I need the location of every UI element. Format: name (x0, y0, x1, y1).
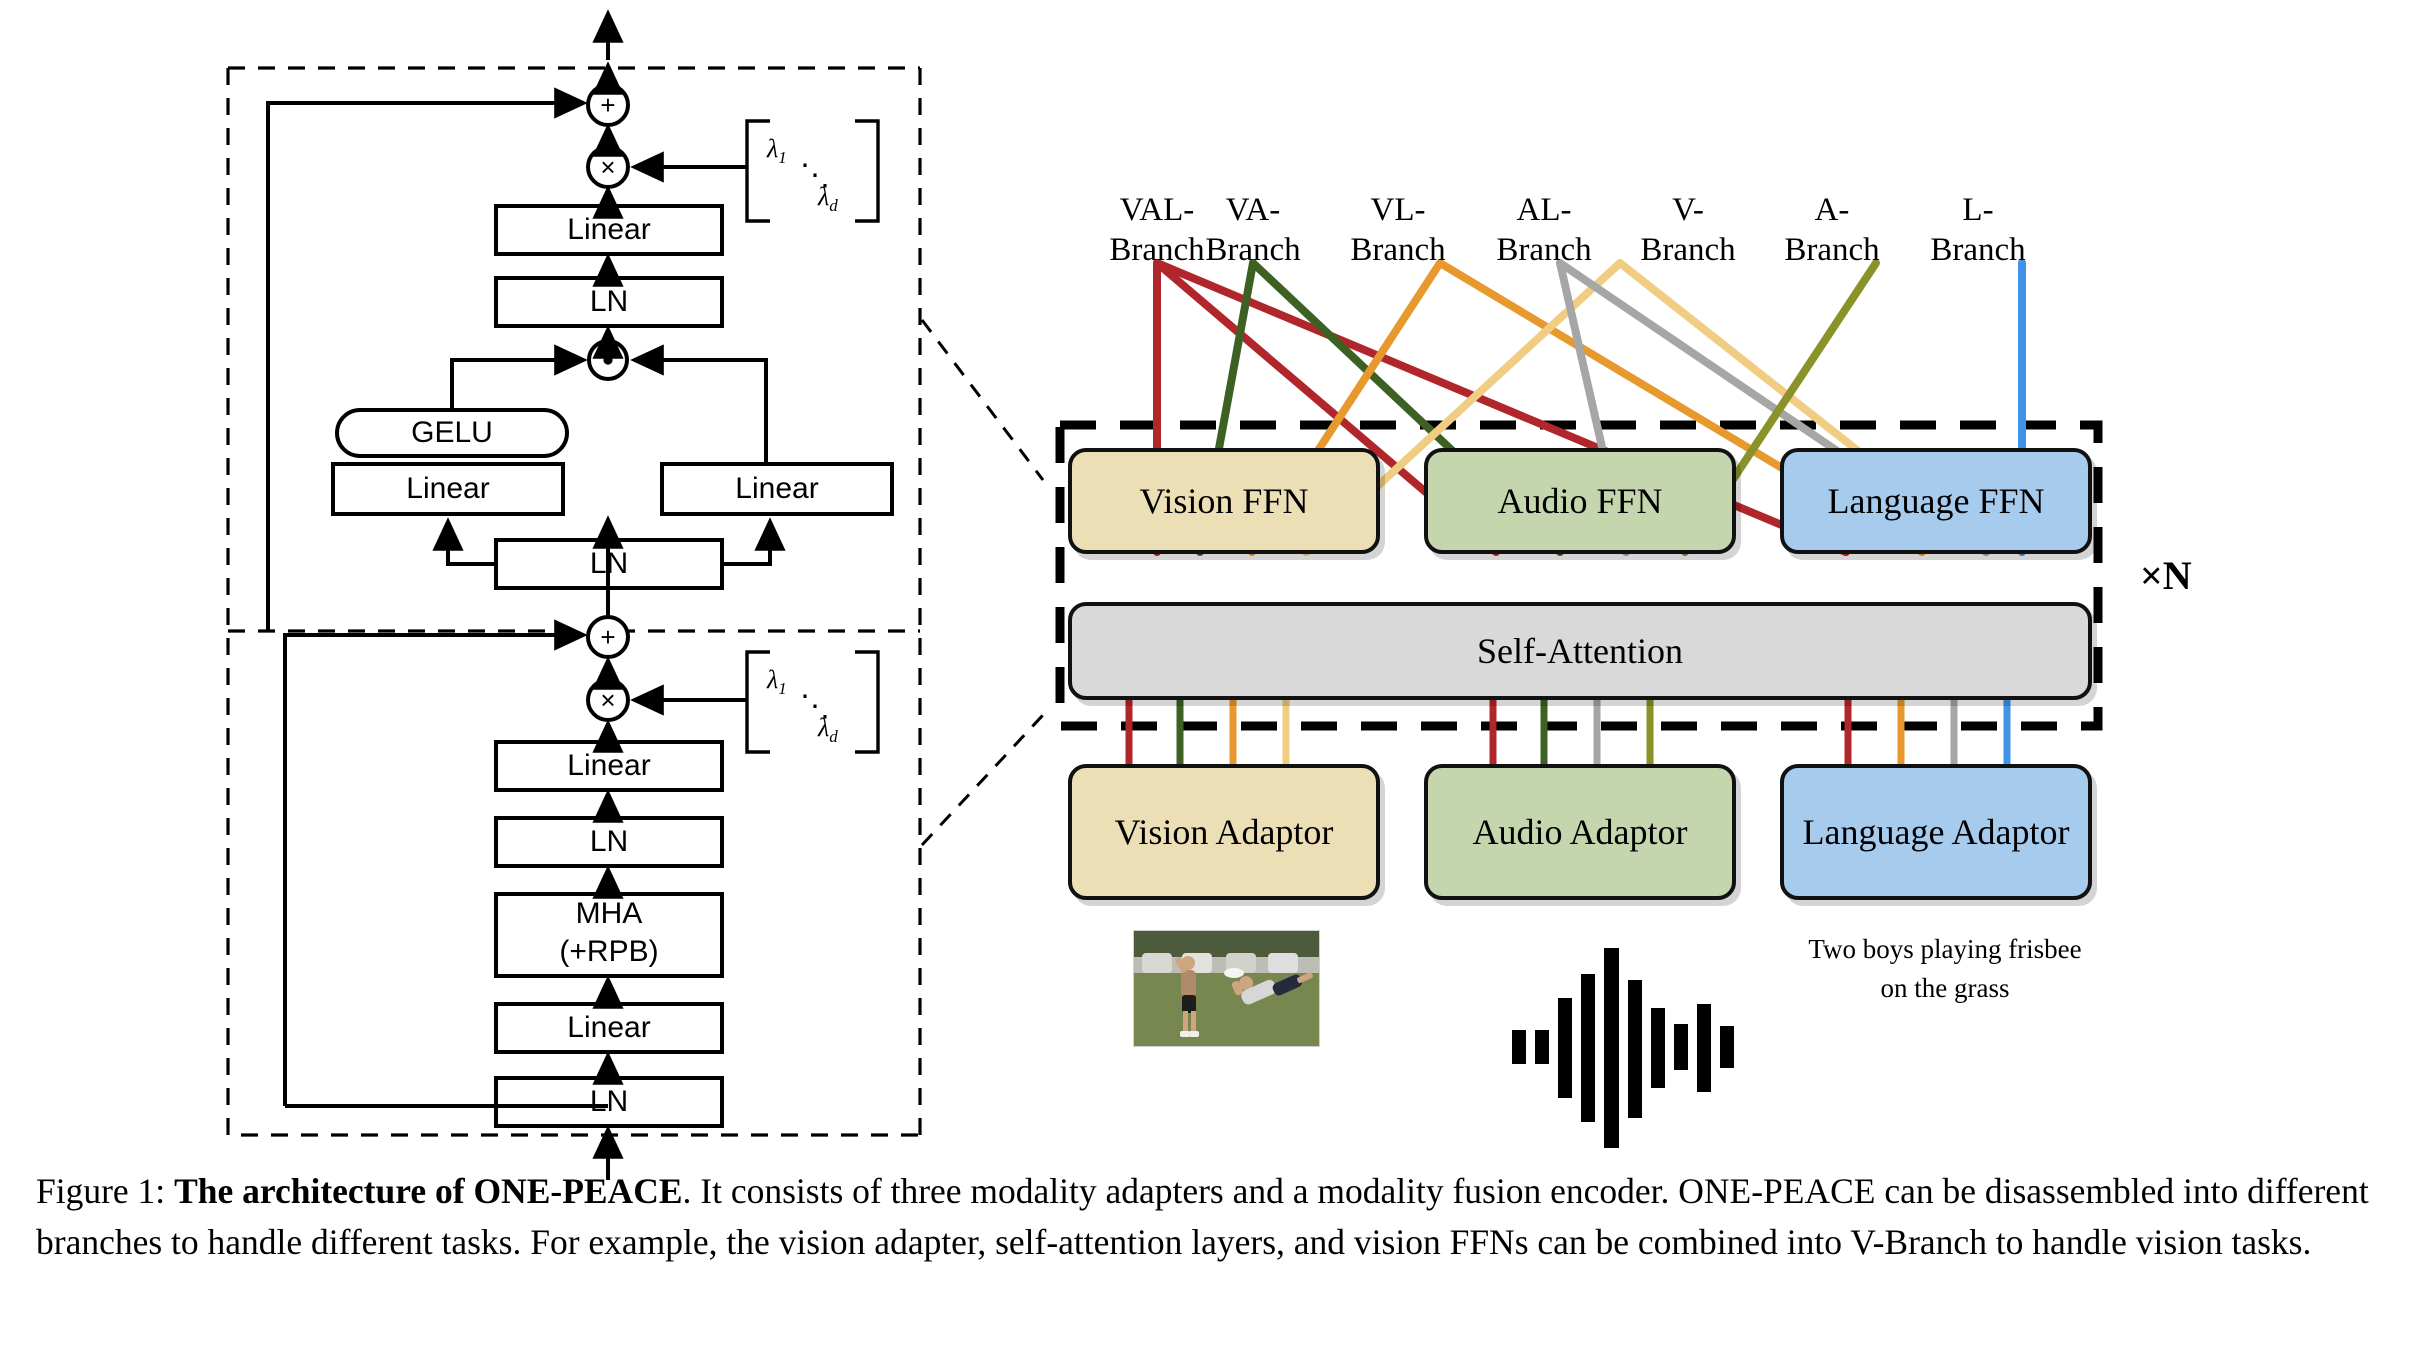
branch-line1: VL- (1323, 190, 1473, 230)
language-input-text: Two boys playing frisbee on the grass (1780, 930, 2110, 1008)
repeat-count-label: ×N (2140, 552, 2192, 599)
branch-label-va: VA- Branch (1178, 190, 1328, 271)
branch-line2: Branch (1757, 230, 1907, 270)
attn-lambda-last: λd (818, 713, 838, 747)
attn-linear-out-box: Linear (496, 742, 722, 790)
branch-label-vl: VL- Branch (1323, 190, 1473, 271)
ffn-scale-op: × (595, 154, 621, 180)
text-caption-line2: on the grass (1780, 969, 2110, 1008)
branch-label-l: L- Branch (1903, 190, 2053, 271)
attn-mha-box-line1: MHA (496, 896, 722, 932)
ffn-ln-out-box: LN (496, 278, 722, 326)
self-attention-box[interactable]: Self-Attention (1068, 602, 2092, 700)
lambda-index: d (829, 196, 838, 215)
audio-adaptor-label: Audio Adaptor (1473, 811, 1688, 853)
branch-line1: AL- (1469, 190, 1619, 230)
attn-linear-in-box: Linear (496, 1004, 722, 1052)
ffn-lambda-last: λd (818, 182, 838, 216)
caption-prefix: Figure 1: (36, 1171, 165, 1211)
branch-line2: Branch (1469, 230, 1619, 270)
vision-ffn-label: Vision FFN (1140, 480, 1309, 522)
branch-line2: Branch (1178, 230, 1328, 270)
ffn-linear-out-box: Linear (496, 206, 722, 254)
zoom-connector-lines (922, 320, 1043, 845)
lambda-index: d (829, 727, 838, 746)
attn-mha-box-line2: (+RPB) (496, 934, 722, 970)
audio-ffn-box[interactable]: Audio FFN (1424, 448, 1736, 554)
text-caption-line1: Two boys playing frisbee (1780, 930, 2110, 969)
branch-line2: Branch (1613, 230, 1763, 270)
vision-adaptor-box[interactable]: Vision Adaptor (1068, 764, 1380, 900)
attn-ln-in-box: LN (496, 1078, 722, 1126)
branch-label-al: AL- Branch (1469, 190, 1619, 271)
attn-lambda-first: λ1 (767, 665, 787, 699)
language-ffn-label: Language FFN (1828, 480, 2045, 522)
ffn-add-op: + (595, 92, 621, 118)
branch-line1: L- (1903, 190, 2053, 230)
language-adaptor-box[interactable]: Language Adaptor (1780, 764, 2092, 900)
lambda-index: 1 (778, 679, 787, 698)
ffn-gelu-box: GELU (337, 410, 567, 456)
attn-add-op: + (595, 624, 621, 650)
ffn-lambda-first: λ1 (767, 134, 787, 168)
lambda-symbol: λ (767, 134, 778, 163)
ffn-ln-in-box: LN (496, 540, 722, 588)
lambda-index: 1 (778, 148, 787, 167)
branch-line1: VA- (1178, 190, 1328, 230)
branch-line1: A- (1757, 190, 1907, 230)
language-adaptor-label: Language Adaptor (1803, 811, 2070, 853)
branch-label-a: A- Branch (1757, 190, 1907, 271)
audio-adaptor-box[interactable]: Audio Adaptor (1424, 764, 1736, 900)
lambda-symbol: λ (818, 713, 829, 742)
attn-ln-post-box: LN (496, 818, 722, 866)
ffn-linear-gate-box: Linear (333, 464, 563, 514)
branch-line2: Branch (1903, 230, 2053, 270)
audio-waveform-icon (1512, 948, 1734, 1148)
figure-caption: Figure 1: The architecture of ONE-PEACE.… (36, 1166, 2392, 1269)
ffn-linear-value-box: Linear (662, 464, 892, 514)
caption-bold-title: The architecture of ONE-PEACE (174, 1171, 682, 1211)
language-ffn-box[interactable]: Language FFN (1780, 448, 2092, 554)
lambda-symbol: λ (767, 665, 778, 694)
branch-label-v: V- Branch (1613, 190, 1763, 271)
vision-input-photo (1133, 930, 1320, 1047)
vision-adaptor-label: Vision Adaptor (1115, 811, 1334, 853)
frisbee-photo-illustration (1134, 931, 1319, 1046)
lambda-symbol: λ (818, 182, 829, 211)
branch-line1: V- (1613, 190, 1763, 230)
audio-ffn-label: Audio FFN (1497, 480, 1662, 522)
self-attention-label: Self-Attention (1477, 630, 1683, 672)
vision-ffn-box[interactable]: Vision FFN (1068, 448, 1380, 554)
figure-root: + × Linear LN GELU Linear Linear LN λ1 ⋱… (0, 0, 2424, 1354)
attn-scale-op: × (595, 687, 621, 713)
branch-line2: Branch (1323, 230, 1473, 270)
